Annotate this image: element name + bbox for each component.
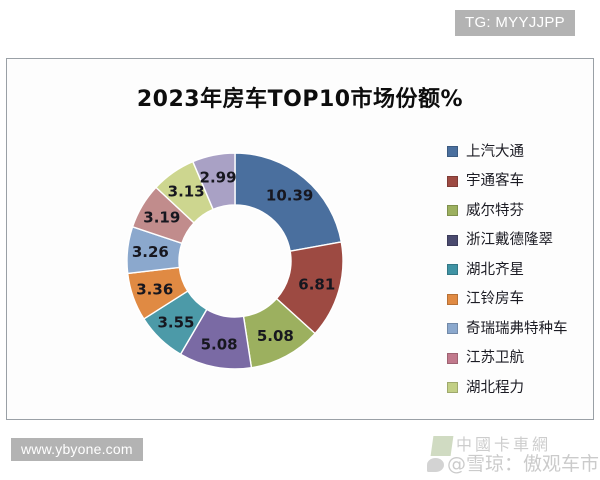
legend-item-label: 江铃房车 [466, 292, 524, 307]
legend-item-label: 江苏卫航 [466, 351, 524, 366]
legend-item[interactable]: 奇瑞瑞弗特种车 [447, 314, 597, 344]
legend-item[interactable]: 江苏卫航 [447, 344, 597, 374]
truck-watermark-text: 中國卡車網 [456, 437, 551, 454]
chart-card: 2023年房车TOP10市场份额% 10.396.815.085.083.553… [6, 58, 594, 420]
legend-item-label: 奇瑞瑞弗特种车 [466, 322, 568, 337]
legend-swatch-icon [447, 353, 458, 364]
wechat-watermark-text: @雪琼：傲观车市 [447, 453, 599, 475]
truck-watermark-glyph [431, 436, 454, 456]
legend-swatch-icon [447, 235, 458, 246]
legend-item[interactable]: 湖北齐星 [447, 255, 597, 285]
donut-slice-value-label: 5.08 [257, 327, 294, 345]
legend-swatch-icon [447, 205, 458, 216]
legend-swatch-icon [447, 294, 458, 305]
donut-slice-value-label: 3.26 [132, 243, 169, 261]
donut-slice-value-label: 5.08 [201, 336, 238, 354]
wechat-icon [427, 458, 444, 472]
donut-slice-value-label: 6.81 [298, 275, 335, 293]
legend-item-label: 湖北程力 [466, 381, 524, 396]
truck-site-watermark: 中國卡車網 [432, 431, 551, 456]
legend-swatch-icon [447, 146, 458, 157]
legend-item[interactable]: 上汽大通 [447, 137, 597, 167]
chart-title: 2023年房车TOP10市场份额% [7, 81, 593, 113]
donut-slice-value-label: 3.36 [136, 280, 173, 298]
legend-swatch-icon [447, 264, 458, 275]
legend-item[interactable]: 湖北程力 [447, 373, 597, 403]
site-watermark-badge: www.ybyone.com [11, 438, 143, 461]
donut-chart-svg: 10.396.815.085.083.553.363.263.193.132.9… [115, 141, 355, 381]
legend-item[interactable]: 宇通客车 [447, 167, 597, 197]
chart-legend: 上汽大通宇通客车威尔特芬浙江戴德隆翠湖北齐星江铃房车奇瑞瑞弗特种车江苏卫航湖北程… [447, 137, 597, 403]
donut-slice-value-label: 10.39 [266, 187, 313, 205]
legend-item-label: 威尔特芬 [466, 204, 524, 219]
donut-slice-value-label: 3.19 [143, 209, 180, 227]
legend-item-label: 上汽大通 [466, 145, 524, 160]
legend-swatch-icon [447, 176, 458, 187]
legend-item-label: 湖北齐星 [466, 263, 524, 278]
legend-swatch-icon [447, 323, 458, 334]
legend-item[interactable]: 浙江戴德隆翠 [447, 226, 597, 256]
legend-item-label: 宇通客车 [466, 174, 524, 189]
donut-slice-value-label: 2.99 [200, 169, 237, 187]
legend-item[interactable]: 江铃房车 [447, 285, 597, 315]
legend-item-label: 浙江戴德隆翠 [466, 233, 553, 248]
wechat-watermark: @雪琼：傲观车市 [427, 449, 599, 476]
donut-chart: 10.396.815.085.083.553.363.263.193.132.9… [115, 141, 355, 381]
tg-watermark-badge: TG: MYYJJPP [455, 10, 575, 36]
donut-slice-value-label: 3.55 [157, 313, 194, 331]
legend-item[interactable]: 威尔特芬 [447, 196, 597, 226]
legend-swatch-icon [447, 382, 458, 393]
